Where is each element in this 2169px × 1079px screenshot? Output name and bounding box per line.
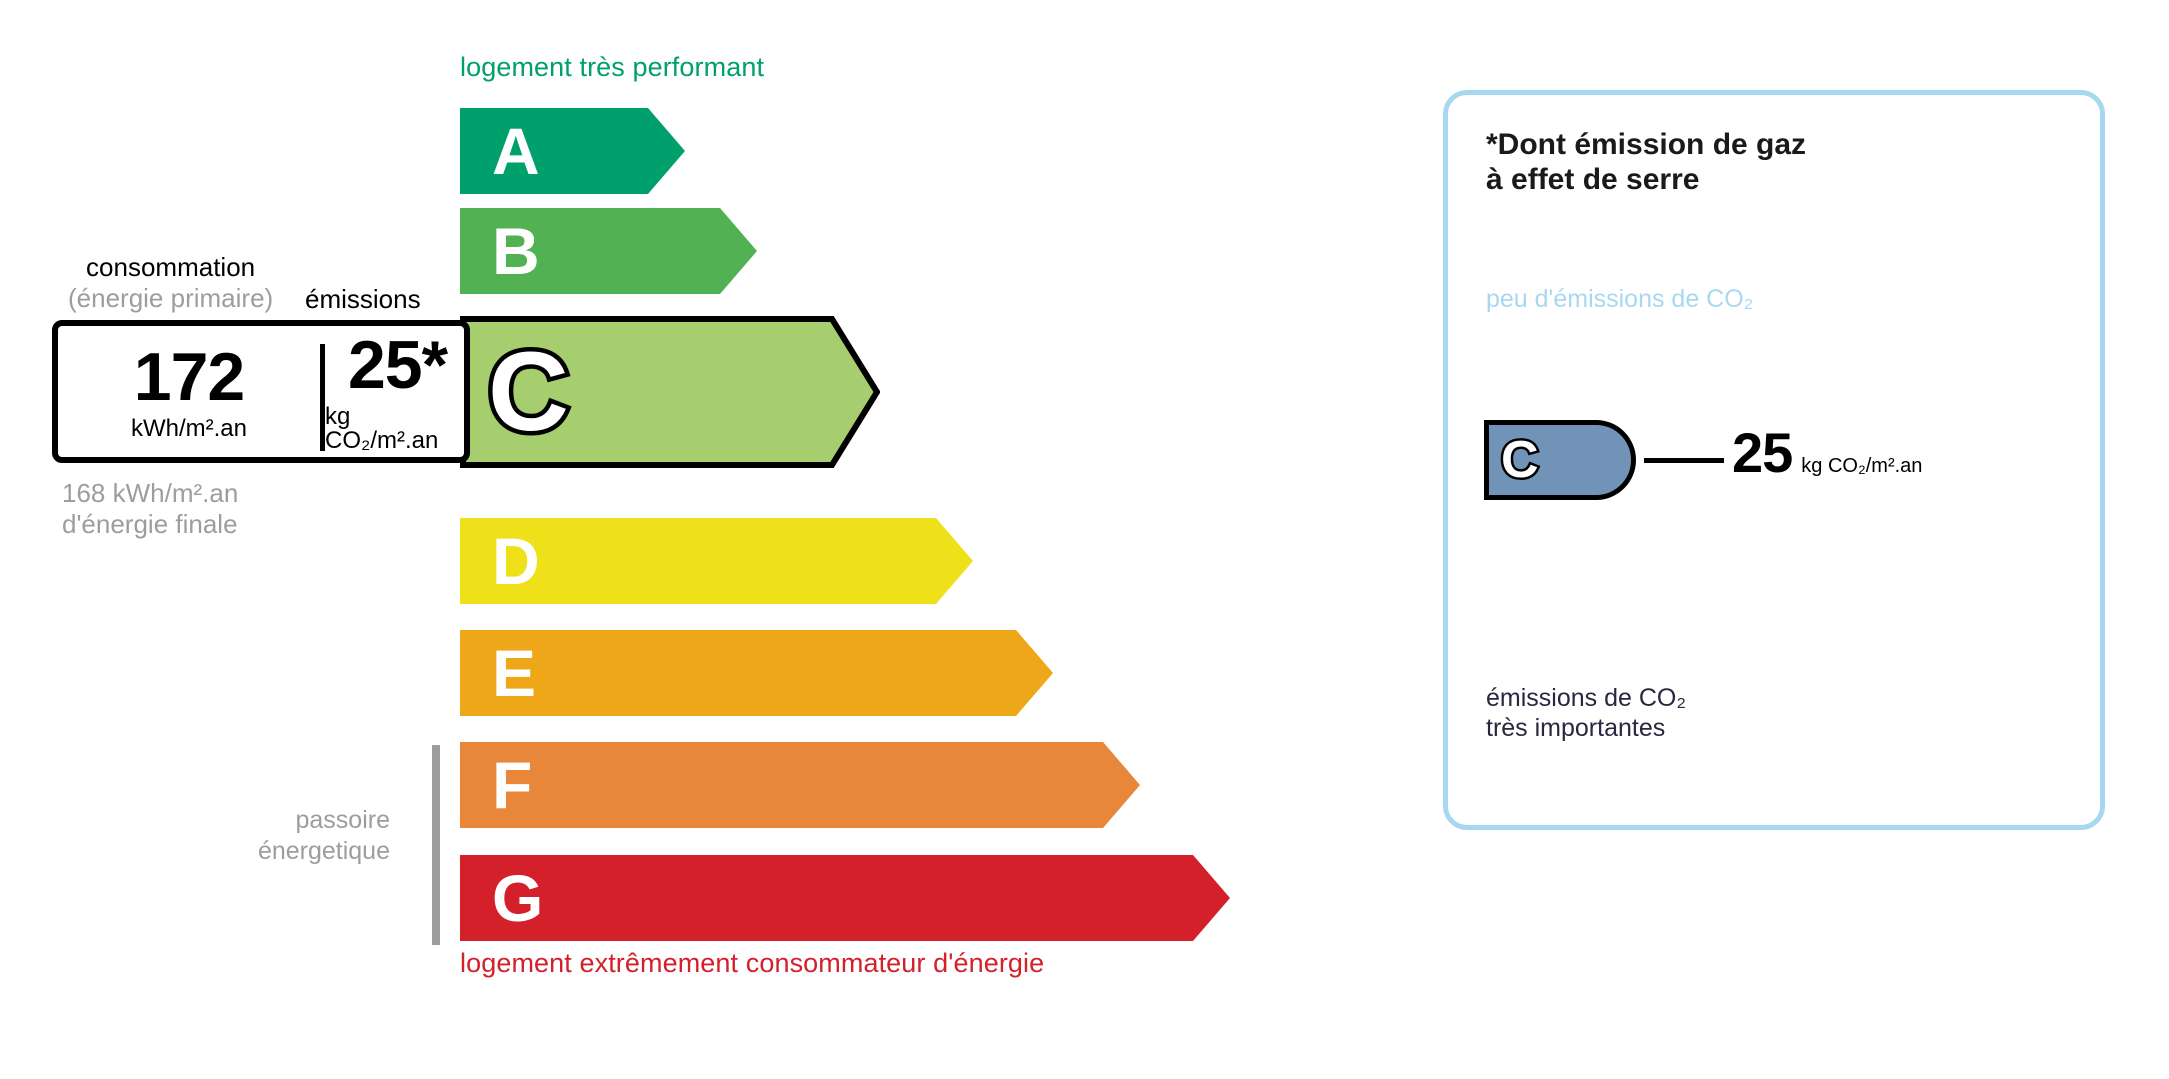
ges-top-caption: peu d'émissions de CO₂ [1486,285,1753,314]
consumption-value-cell: 172 kWh/m².an [58,326,320,457]
energy-arrow-shape-g [460,855,1230,941]
ges-title-line1: *Dont émission de gaz [1486,127,1806,162]
energy-letter-d: D [492,528,540,594]
energy-row-e: E [460,630,1053,716]
ges-bottom-caption-line2: très importantes [1486,713,1686,743]
ges-letter-c: C [1501,434,1539,486]
ges-selected-value: 25 [1732,425,1792,481]
final-energy-line1: 168 kWh/m².an [62,478,238,509]
passoire-bracket [432,745,440,945]
final-energy-note: 168 kWh/m².an d'énergie finale [62,478,238,540]
energy-top-caption: logement très performant [460,52,764,83]
ges-row-f: F [1486,606,1751,651]
energy-letter-g: G [492,865,543,931]
energy-letter-e: E [492,640,536,706]
dpe-value-box: 172 kWh/m².an 25* kg CO₂/m².an [52,320,470,463]
ges-panel-title: *Dont émission de gaz à effet de serre [1486,127,1806,198]
ges-row-e: E [1486,557,1718,602]
ges-letter-f: F [1498,614,1516,644]
consumption-value: 172 [134,343,244,411]
ges-letter-d: D [1498,516,1520,546]
consumption-header: consommation (énergie primaire) [68,252,273,314]
greenhouse-gas-panel: *Dont émission de gaz à effet de serre p… [1443,90,2105,830]
ges-selected-value-group: 25 kg CO₂/m².an [1732,425,1922,481]
passoire-line2: énergetique [200,836,390,867]
energy-letter-a: A [492,118,540,184]
consumption-header-line1: consommation [86,252,255,282]
ges-row-d: D [1486,508,1686,553]
energy-row-f: F [460,742,1140,828]
ges-row-b: B [1486,372,1606,417]
energy-arrow-shape-f [460,742,1140,828]
ges-letter-b: B [1498,380,1520,410]
energy-letter-b: B [492,218,540,284]
ges-leader-line [1644,458,1724,463]
passoire-line1: passoire [200,805,390,836]
energy-row-d: D [460,518,973,604]
ges-letter-e: E [1498,565,1518,595]
passoire-energetique-label: passoire énergetique [200,805,390,868]
ges-letter-g: G [1498,663,1521,693]
consumption-unit: kWh/m².an [131,417,247,441]
emissions-unit: kg CO₂/m².an [325,405,470,453]
ges-letter-a: A [1498,331,1520,361]
emissions-header: émissions [305,284,421,315]
emissions-value-cell: 25* kg CO₂/m².an [325,326,470,457]
energy-arrow-shape-e [460,630,1053,716]
energy-row-c: C [460,316,880,468]
ges-row-c-selected: C [1484,420,1636,500]
emissions-value: 25* [348,331,447,399]
energy-letter-c: C [488,336,569,448]
ges-row-a: A [1486,323,1581,368]
energy-row-b: B [460,208,757,294]
energy-row-g: G [460,855,1230,941]
final-energy-line2: d'énergie finale [62,509,238,540]
energy-letter-f: F [492,752,532,818]
energy-row-a: A [460,108,685,194]
consumption-header-line2: (énergie primaire) [68,283,273,314]
energy-performance-scale: logement très performant A B C [0,0,1380,1079]
energy-bottom-caption: logement extrêmement consommateur d'éner… [460,948,1044,979]
ges-title-line2: à effet de serre [1486,162,1806,197]
ges-selected-unit: kg CO₂/m².an [1801,455,1922,478]
